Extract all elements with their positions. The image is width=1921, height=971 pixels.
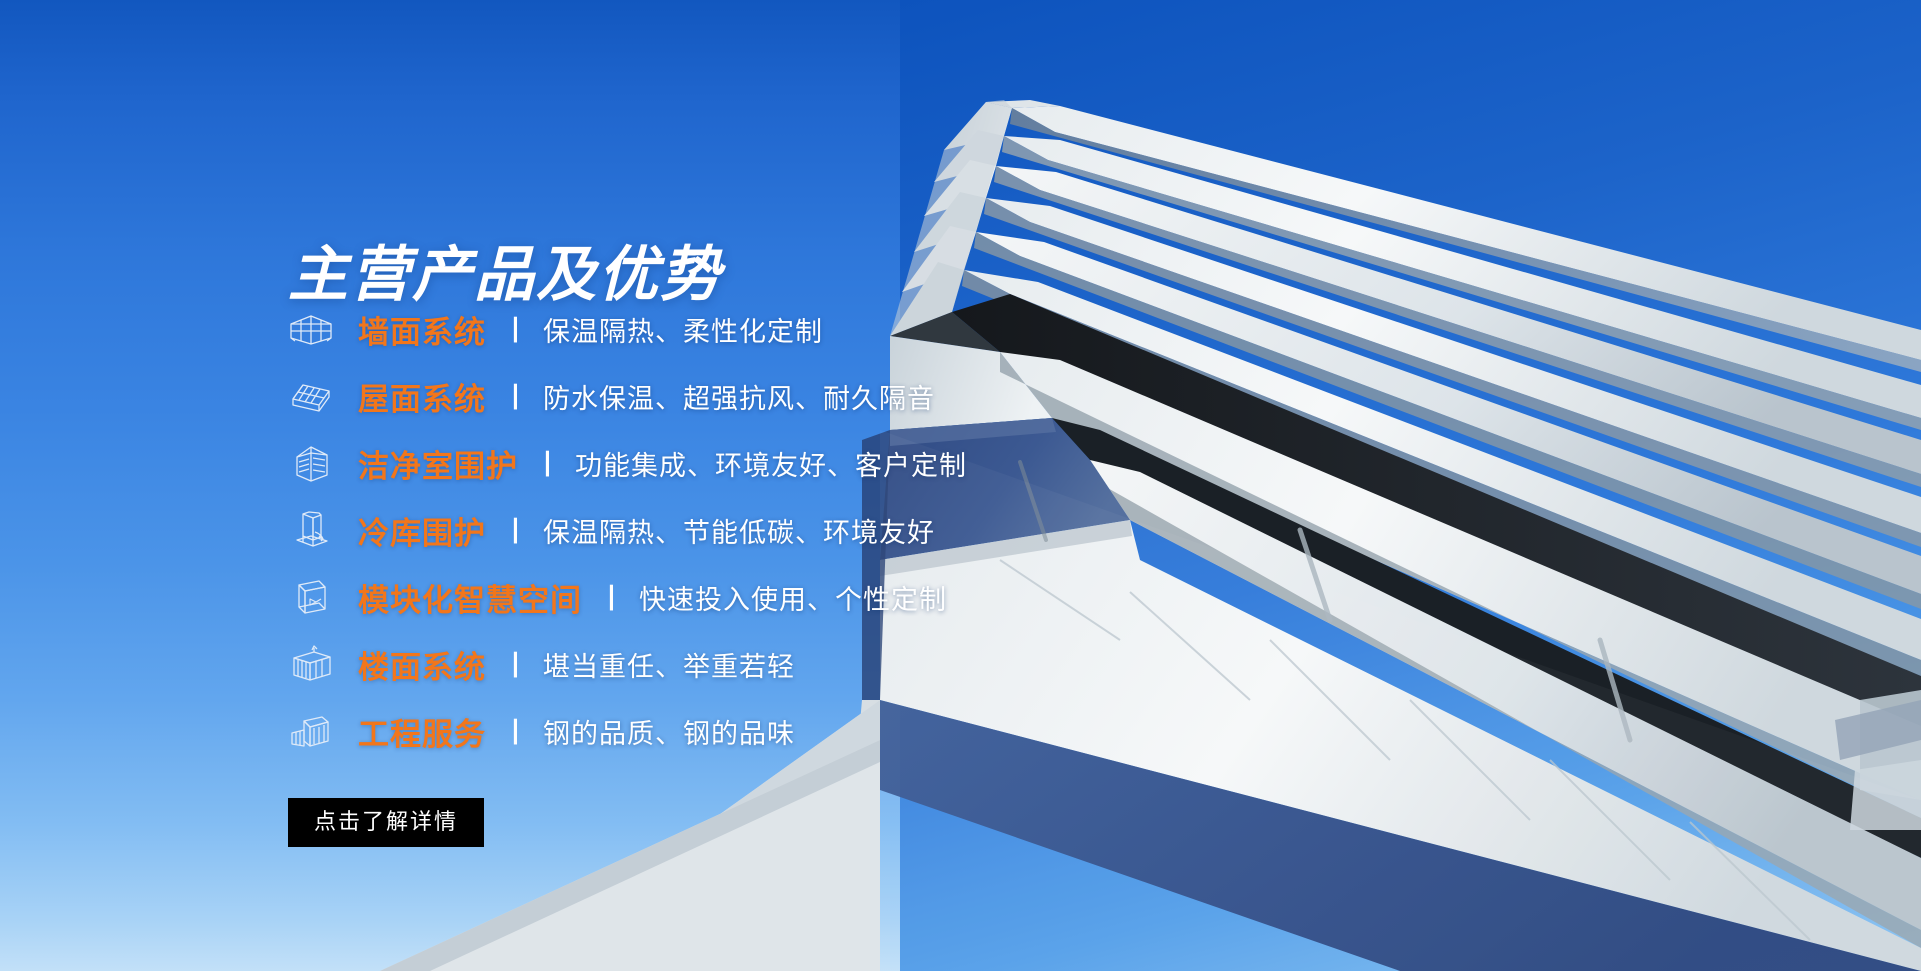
list-item[interactable]: 楼面系统 丨 堪当重任、举重若轻 <box>288 638 1168 691</box>
product-description: 快速投入使用、个性定制 <box>639 578 947 617</box>
list-item[interactable]: 洁净室围护 丨 功能集成、环境友好、客户定制 <box>288 437 1168 490</box>
roof-system-icon <box>288 375 334 419</box>
cold-storage-enclosure-icon <box>288 509 334 553</box>
cleanroom-enclosure-icon <box>288 442 334 486</box>
product-category: 墙面系统 <box>358 307 486 352</box>
list-item[interactable]: 工程服务 丨 钢的品质、钢的品味 <box>288 705 1168 758</box>
separator: 丨 <box>502 510 529 549</box>
list-item[interactable]: 冷库围护 丨 保温隔热、节能低碳、环境友好 <box>288 504 1168 557</box>
separator: 丨 <box>502 644 529 683</box>
page-title: 主营产品及优势 <box>288 245 722 305</box>
product-category: 屋面系统 <box>358 374 486 419</box>
separator: 丨 <box>598 577 625 616</box>
product-category: 工程服务 <box>358 709 486 754</box>
product-category: 楼面系统 <box>358 642 486 687</box>
product-description: 防水保温、超强抗风、耐久隔音 <box>543 377 935 416</box>
separator: 丨 <box>502 376 529 415</box>
list-item[interactable]: 模块化智慧空间 丨 快速投入使用、个性定制 <box>288 571 1168 624</box>
product-description: 功能集成、环境友好、客户定制 <box>575 444 967 483</box>
modular-smart-space-icon <box>288 576 334 620</box>
product-description: 保温隔热、柔性化定制 <box>543 310 823 349</box>
banner-content: 主营产品及优势 墙面系统 丨 <box>0 0 1000 971</box>
banner-stage: 主营产品及优势 墙面系统 丨 <box>0 0 1921 971</box>
engineering-service-icon <box>288 710 334 754</box>
separator: 丨 <box>502 309 529 348</box>
wall-system-icon <box>288 308 334 352</box>
learn-more-button[interactable]: 点击了解详情 <box>288 798 484 847</box>
product-category: 冷库围护 <box>358 508 486 553</box>
separator: 丨 <box>534 443 561 482</box>
list-item[interactable]: 墙面系统 丨 保温隔热、柔性化定制 <box>288 303 1168 356</box>
product-description: 堪当重任、举重若轻 <box>543 645 795 684</box>
separator: 丨 <box>502 711 529 750</box>
floor-system-icon <box>288 643 334 687</box>
product-description: 钢的品质、钢的品味 <box>543 712 795 751</box>
product-category: 洁净室围护 <box>358 441 518 486</box>
product-description: 保温隔热、节能低碳、环境友好 <box>543 511 935 550</box>
list-item[interactable]: 屋面系统 丨 防水保温、超强抗风、耐久隔音 <box>288 370 1168 423</box>
product-category: 模块化智慧空间 <box>358 575 582 620</box>
product-list: 墙面系统 丨 保温隔热、柔性化定制 <box>288 303 1168 772</box>
